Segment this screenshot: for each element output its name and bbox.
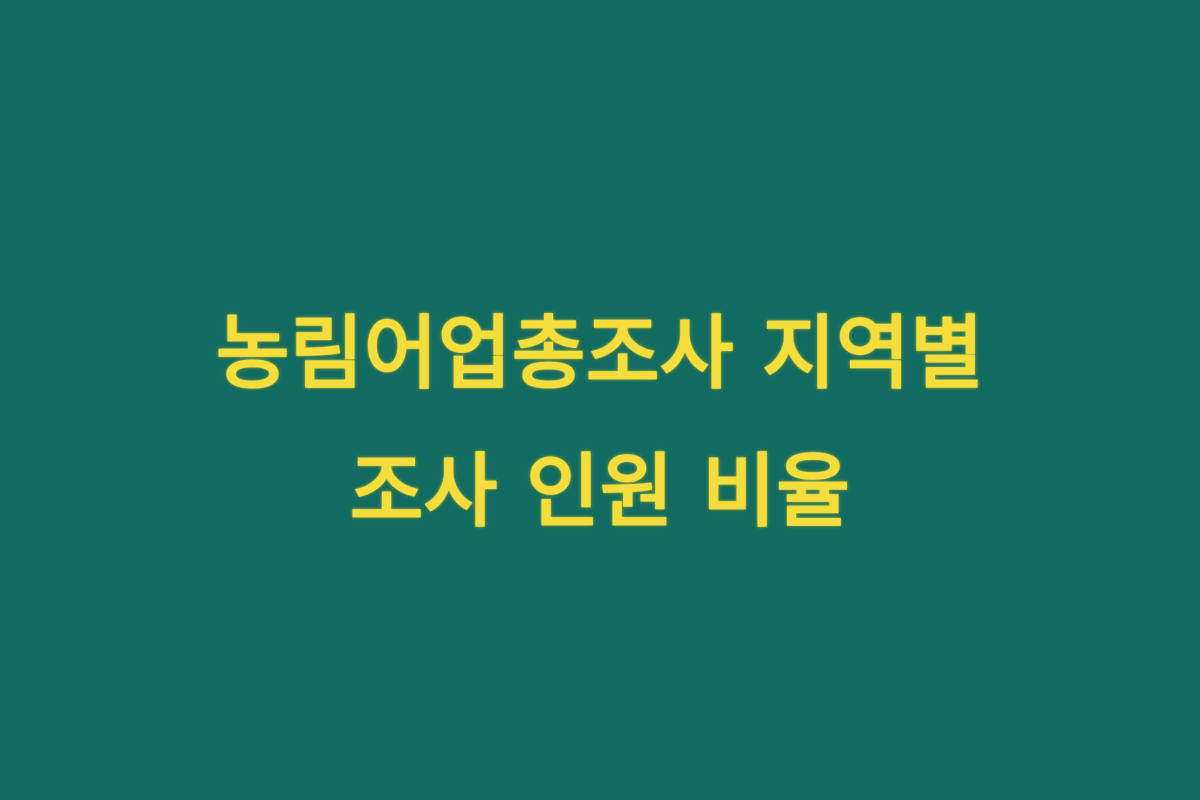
title-card: 농림어업총조사 지역별 조사 인원 비율 [0,0,1200,800]
headline-block: 농림어업총조사 지역별 조사 인원 비율 [0,285,1200,561]
headline-line-1: 농림어업총조사 지역별 [40,285,1160,423]
headline-line-2: 조사 인원 비율 [40,423,1160,561]
